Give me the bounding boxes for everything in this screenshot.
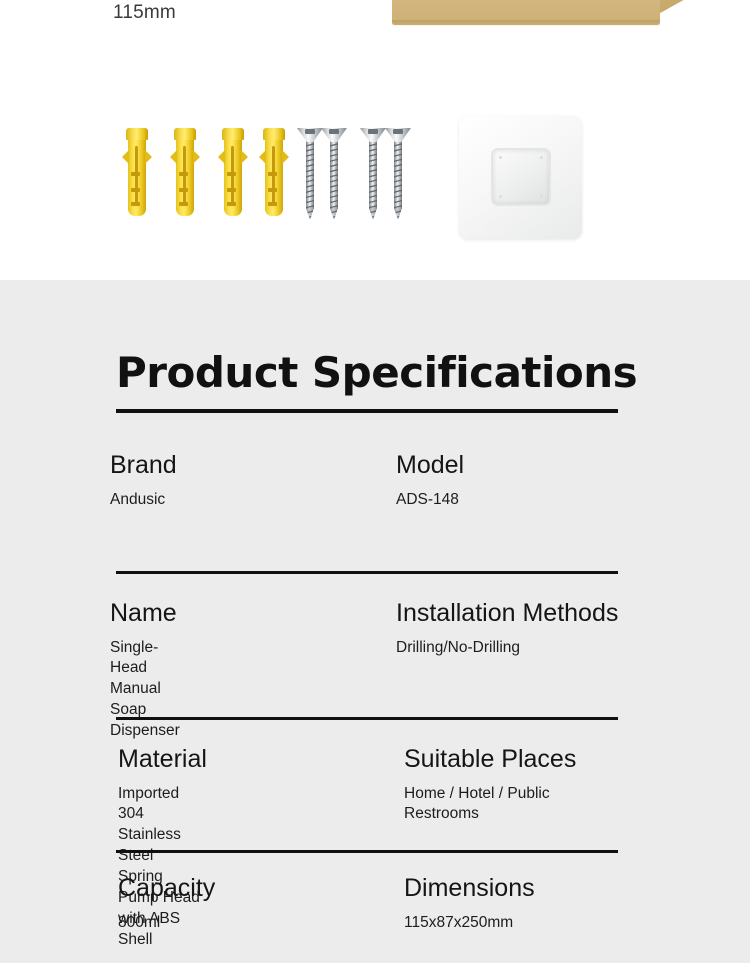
spec-label: Name bbox=[110, 600, 180, 628]
spec-label: Dimensions bbox=[404, 875, 535, 903]
row-divider bbox=[116, 571, 618, 574]
spec-label: Brand bbox=[110, 452, 177, 480]
sticker-inner-square bbox=[491, 148, 551, 206]
spec-cell-name: Name Single-Head Manual Soap Dispenser bbox=[110, 600, 180, 742]
spec-value: 115x87x250mm bbox=[404, 913, 535, 934]
wall-anchor-icon bbox=[124, 128, 150, 216]
spec-cell-dimensions: Dimensions 115x87x250mm bbox=[404, 875, 535, 933]
carton-side-face bbox=[653, 0, 749, 17]
spec-value: Drilling/No-Drilling bbox=[396, 638, 618, 659]
wall-anchor-icon bbox=[261, 128, 287, 216]
accessories-row bbox=[0, 108, 750, 258]
screw-icon bbox=[321, 128, 347, 220]
spec-cell-installation-methods: Installation Methods Drilling/No-Drillin… bbox=[396, 600, 618, 658]
spec-cell-capacity: Capacity 800ml bbox=[118, 875, 215, 933]
spec-value: Home / Hotel / Public Restrooms bbox=[404, 784, 576, 826]
product-photo-band: 115mm bbox=[0, 0, 750, 280]
spec-value: ADS-148 bbox=[396, 490, 464, 511]
spec-label: Suitable Places bbox=[404, 746, 576, 774]
spec-label: Installation Methods bbox=[396, 600, 618, 628]
spec-value: 800ml bbox=[118, 913, 215, 934]
screw-icon bbox=[297, 128, 323, 220]
title-underline bbox=[116, 409, 618, 413]
row-divider bbox=[116, 717, 618, 720]
dimension-label: 115mm bbox=[113, 2, 176, 24]
wall-anchor-icon bbox=[172, 128, 198, 216]
spec-cell-model: Model ADS-148 bbox=[396, 452, 464, 510]
carton-bottom-shadow bbox=[392, 20, 660, 26]
spec-cell-suitable-places: Suitable Places Home / Hotel / Public Re… bbox=[404, 746, 576, 825]
spec-cell-brand: Brand Andusic bbox=[110, 452, 177, 510]
row-divider bbox=[116, 850, 618, 853]
page-title: Product Specifications bbox=[116, 348, 637, 397]
cardboard-carton-image bbox=[392, 0, 660, 35]
wall-anchor-icon bbox=[220, 128, 246, 216]
screw-icon bbox=[360, 128, 386, 220]
spec-label: Model bbox=[396, 452, 464, 480]
spec-value: Andusic bbox=[110, 490, 177, 511]
spec-value: Single-Head Manual Soap Dispenser bbox=[110, 638, 180, 743]
spec-label: Capacity bbox=[118, 875, 215, 903]
product-detail-page: 115mm bbox=[0, 0, 750, 963]
spec-label: Material bbox=[118, 746, 207, 774]
screw-icon bbox=[385, 128, 411, 220]
adhesive-sticker-icon bbox=[459, 116, 582, 239]
